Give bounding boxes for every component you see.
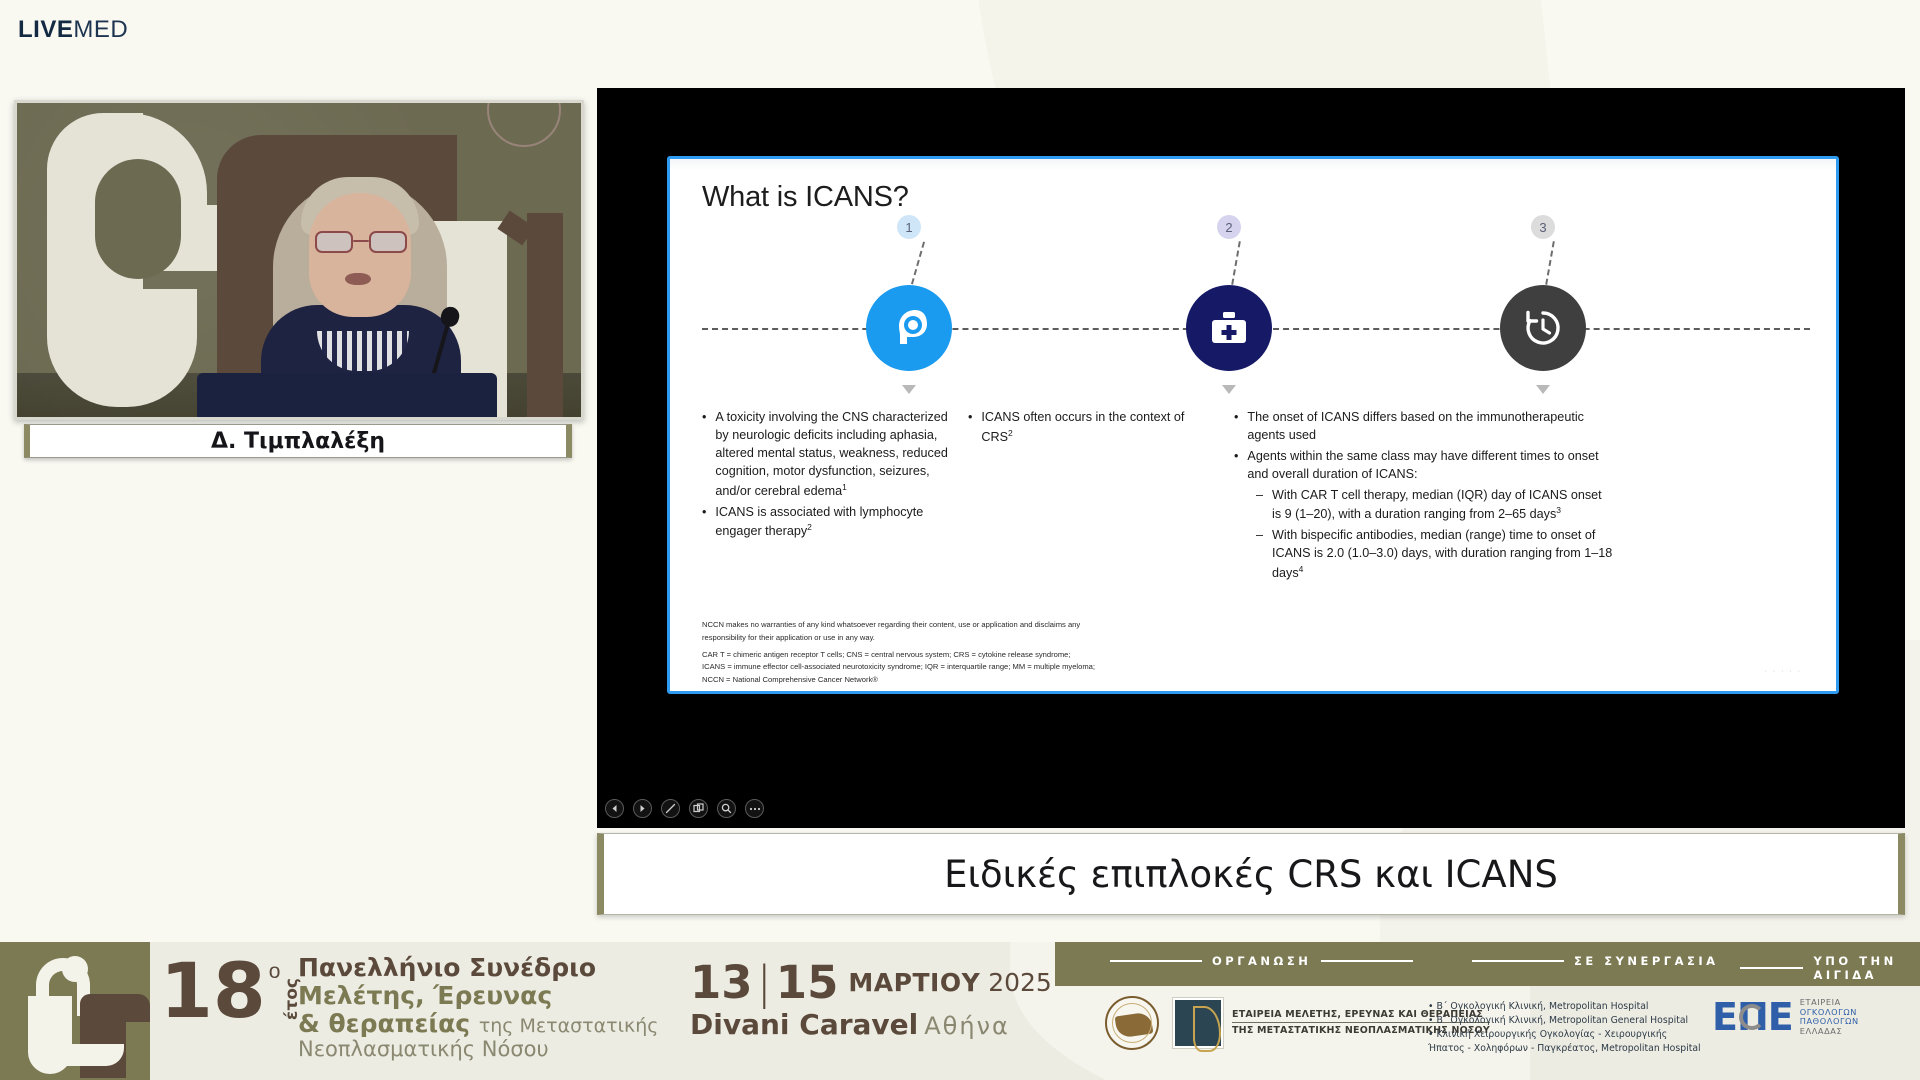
step-badge-3: 3	[1531, 215, 1555, 239]
conference-title-block: Πανελλήνιο Συνέδριο Μελέτης, Έρευνας & θ…	[298, 954, 658, 1062]
conference-banner: 18 ο έτος Πανελλήνιο Συνέδριο Μελέτης, Έ…	[0, 942, 1920, 1080]
conference-date-block: 13 | 15 ΜΑΡΤΙΟΥ 2025 Divani CaravelΑθήνα	[690, 960, 1052, 1041]
bullet-item: • A toxicity involving the CNS character…	[702, 409, 952, 501]
date-start: 13	[690, 960, 753, 1005]
slide-player[interactable]: What is ICANS? 1 2 3	[597, 88, 1905, 828]
date-month: ΜΑΡΤΙΟΥ	[848, 970, 980, 995]
slide-frame[interactable]: What is ICANS? 1 2 3	[667, 156, 1839, 694]
footnote-line: NCCN = National Comprehensive Cancer Net…	[702, 674, 1402, 686]
venue-name: Divani Caravel	[690, 1008, 918, 1041]
edition-ordinal: ο	[269, 960, 281, 984]
zoom-button[interactable]	[717, 799, 736, 818]
bullet-text: The onset of ICANS differs based on the …	[1247, 409, 1614, 445]
pen-annotate-button[interactable]	[661, 799, 680, 818]
badge-connector-1	[911, 242, 925, 285]
date-separator: |	[757, 960, 772, 1005]
player-toolbar[interactable]	[605, 799, 764, 818]
sub-bullet-item: – With bispecific antibodies, median (ra…	[1256, 527, 1614, 583]
rule-left	[1740, 967, 1803, 969]
backdrop-shape-hole	[95, 159, 181, 279]
speaker-nameplate: Δ. Τιμπλαλέξη	[24, 424, 572, 458]
sub-bullet-ref: 3	[1556, 505, 1561, 515]
sub-bullet-ref: 4	[1299, 564, 1304, 574]
bullet-dot-icon: •	[1234, 409, 1238, 445]
previous-slide-button[interactable]	[605, 799, 624, 818]
list-item: Κλινική Χειρουργικής Ογκολογίας - Χειρου…	[1428, 1028, 1701, 1042]
footnote-line: ICANS = immune effector cell-associated …	[702, 661, 1402, 673]
conference-title-line3-small: της Μεταστατικής	[479, 1015, 659, 1037]
backdrop-numeral-one	[527, 213, 563, 417]
rule-right	[1321, 960, 1413, 962]
organization-label: ΟΡΓΑΝΩΣΗ	[1212, 954, 1311, 968]
process-timeline	[670, 327, 1836, 331]
slide-columns: • A toxicity involving the CNS character…	[702, 409, 1822, 586]
slide-column-1: • A toxicity involving the CNS character…	[702, 409, 952, 586]
slide-header-band	[670, 159, 1836, 171]
bullet-ref: 2	[807, 522, 812, 532]
list-item: Ήπατος - Χοληφόρων - Παγκρέατος, Metropo…	[1428, 1042, 1701, 1056]
conference-emblem-icon	[18, 950, 138, 1076]
venue-city: Αθήνα	[924, 1012, 1010, 1040]
eope-logo: ΕΠΕ ΕΤΑΙΡΕΙΑ ΟΓΚΟΛΟΓΩΝ ΠΑΘΟΛΟΓΩΝ ΕΛΛΑΔΑΣ	[1712, 998, 1859, 1037]
footnote-line: NCCN makes no warranties of any kind wha…	[702, 619, 1402, 631]
slide-footnotes: NCCN makes no warranties of any kind wha…	[702, 619, 1402, 687]
bullet-dot-icon: •	[968, 409, 972, 447]
sub-bullet-text: With CAR T cell therapy, median (IQR) da…	[1272, 488, 1602, 522]
footnote-line: responsibility for their application or …	[702, 632, 1402, 644]
arrow-down-icon-3	[1536, 385, 1550, 394]
speaker-name: Δ. Τιμπλαλέξη	[211, 429, 385, 454]
conference-title-line2: Μελέτης, Έρευνας	[298, 982, 658, 1010]
sub-bullet-item: – With CAR T cell therapy, median (IQR) …	[1256, 487, 1614, 525]
ministry-seal-icon	[1105, 996, 1159, 1050]
slide-content: What is ICANS? 1 2 3	[670, 159, 1836, 691]
auspices-label: ΥΠΟ ΤΗΝ ΑΙΓΙΔΑ	[1813, 954, 1920, 982]
clock-history-icon	[1500, 285, 1586, 371]
rule-left	[1110, 960, 1202, 962]
list-item: Β΄ Ογκολογική Κλινική, Metropolitan Hosp…	[1428, 1000, 1701, 1014]
conference-title-line3: & θεραπείας της Μεταστατικής	[298, 1010, 658, 1038]
bullet-dot-icon: •	[702, 504, 706, 542]
step-badge-1: 1	[897, 215, 921, 239]
speaker-video-panel[interactable]	[14, 100, 584, 420]
conference-title-line4: Νεοπλασματικής Νόσου	[298, 1038, 658, 1062]
head-brain-icon	[866, 285, 952, 371]
slide-title: What is ICANS?	[702, 181, 909, 214]
video-frame	[17, 103, 581, 417]
edition-number: 18	[160, 956, 266, 1026]
bullet-item: • ICANS is associated with lymphocyte en…	[702, 504, 952, 542]
livemed-logo[interactable]: LIVEMED	[18, 18, 128, 42]
cooperation-label: ΣΕ ΣΥΝΕΡΓΑΣΙΑ	[1574, 954, 1719, 968]
bullet-text: ICANS is associated with lymphocyte enga…	[715, 505, 923, 539]
conference-title-line3-bold: & θεραπείας	[298, 1009, 470, 1038]
eope-line4: ΕΛΛΑΔΑΣ	[1800, 1027, 1859, 1037]
auspices-label-group: ΥΠΟ ΤΗΝ ΑΙΓΙΔΑ	[1740, 954, 1920, 982]
footnote-line: CAR T = chimeric antigen receptor T cell…	[702, 649, 1402, 661]
next-slide-button[interactable]	[633, 799, 652, 818]
logo-med-text: MED	[73, 18, 128, 42]
slide-reference-note: · · · · ·	[1765, 668, 1802, 675]
speaker-glasses	[315, 231, 407, 253]
bullet-dot-icon: •	[1234, 448, 1238, 484]
bullet-item: • ICANS often occurs in the context of C…	[968, 409, 1218, 447]
bullet-item: • The onset of ICANS differs based on th…	[1234, 409, 1614, 445]
badge-connector-2	[1231, 241, 1241, 285]
arrow-down-icon-1	[902, 385, 916, 394]
conference-title-line1: Πανελλήνιο Συνέδριο	[298, 954, 658, 982]
layout-button[interactable]	[689, 799, 708, 818]
webinar-player-page: LIVEMED	[0, 0, 1920, 1080]
more-options-button[interactable]	[745, 799, 764, 818]
bullet-item: • Agents within the same class may have …	[1234, 448, 1614, 484]
medical-bag-icon	[1186, 285, 1272, 371]
society-mark-icon	[1173, 998, 1223, 1048]
arrow-down-icon-2	[1222, 385, 1236, 394]
step-badge-2: 2	[1217, 215, 1241, 239]
eope-mark-text: ΕΠΕ	[1712, 998, 1793, 1036]
session-title-bar: Ειδικές επιπλοκές CRS και ICANS	[597, 833, 1905, 915]
edition-number-block: 18 ο έτος	[160, 956, 302, 1026]
list-item: Β΄ Ογκολογική Κλινική, Metropolitan Gene…	[1428, 1014, 1701, 1028]
organization-label-group: ΟΡΓΑΝΩΣΗ	[1110, 954, 1413, 968]
badge-connector-3	[1545, 241, 1555, 285]
bullet-dot-icon: •	[702, 409, 706, 501]
session-title: Ειδικές επιπλοκές CRS και ICANS	[944, 853, 1558, 896]
rule-left	[1472, 960, 1564, 962]
dash-icon: –	[1256, 487, 1263, 525]
date-year: 2025	[988, 970, 1052, 995]
bullet-ref: 2	[1008, 428, 1013, 438]
sub-bullet-text: With bispecific antibodies, median (rang…	[1272, 528, 1612, 580]
bullet-text: Agents within the same class may have di…	[1247, 448, 1614, 484]
date-end: 15	[776, 960, 839, 1005]
sub-bullet-list: – With CAR T cell therapy, median (IQR) …	[1256, 487, 1614, 584]
cooperation-label-group: ΣΕ ΣΥΝΕΡΓΑΣΙΑ	[1472, 954, 1719, 968]
bullet-text: A toxicity involving the CNS characteriz…	[715, 410, 947, 498]
dash-icon: –	[1256, 527, 1263, 583]
logo-live-text: LIVE	[18, 18, 73, 42]
slide-column-3: • The onset of ICANS differs based on th…	[1234, 409, 1614, 586]
slide-column-2: • ICANS often occurs in the context of C…	[968, 409, 1218, 586]
bullet-ref: 1	[842, 482, 847, 492]
cooperation-list: Β΄ Ογκολογική Κλινική, Metropolitan Hosp…	[1428, 1000, 1701, 1056]
podium-laptop	[197, 373, 497, 417]
